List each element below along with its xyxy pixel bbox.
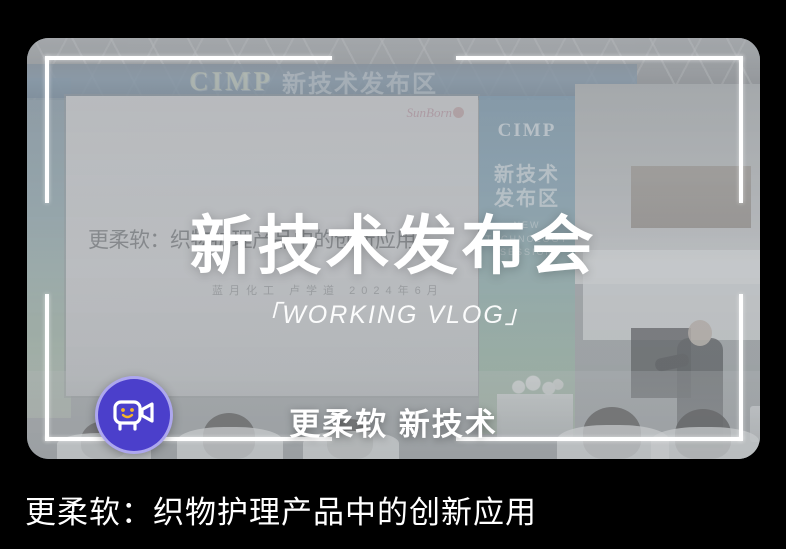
video-cover-card[interactable]: CIMP 新技术发布区 SunBorn 更柔软：织物护理产品中的创新应用 蓝月化… bbox=[27, 38, 760, 459]
frame-right-top-segment bbox=[739, 56, 743, 203]
caption-text: 更柔软：织物护理产品中的创新应用 bbox=[25, 487, 537, 532]
frame-left-top-segment bbox=[45, 56, 49, 203]
video-camera-smile-icon bbox=[112, 397, 156, 433]
frame-top-right-segment bbox=[456, 56, 743, 60]
video-badge[interactable] bbox=[95, 376, 173, 454]
frame-top-left-segment bbox=[45, 56, 332, 60]
